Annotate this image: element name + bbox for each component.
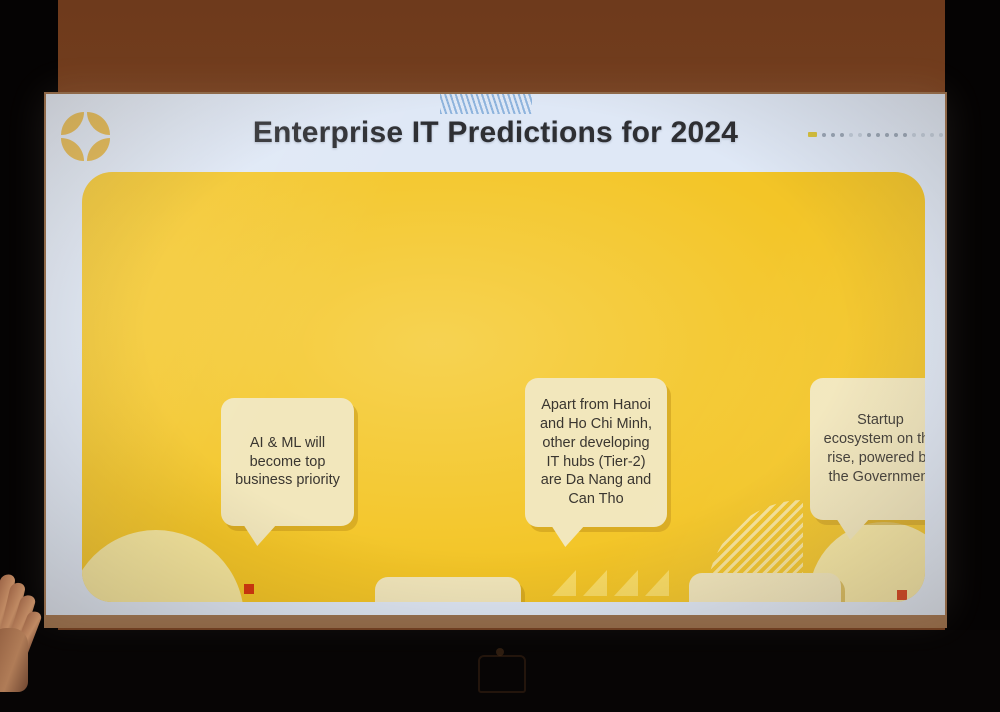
presenter-hand <box>0 572 40 692</box>
prediction-bubble-ai-ml: AI & ML will become top business priorit… <box>221 398 354 526</box>
dot-mark <box>831 133 835 137</box>
palm <box>0 628 28 692</box>
dash-mark <box>808 132 817 137</box>
yellow-content-panel: AI & ML will become top business priorit… <box>82 172 925 602</box>
triangle-mark <box>583 570 607 596</box>
bubble-text: AI & ML will become top business priorit… <box>233 434 342 491</box>
podium-knob <box>496 648 504 656</box>
dotted-line-decoration <box>808 131 943 138</box>
dot-mark <box>867 133 871 137</box>
hatch-stripes-decoration <box>440 94 532 114</box>
dot-mark <box>849 133 853 137</box>
prediction-bubble-cutting-edge: Demand for cutting-edge IT solutions to … <box>375 577 521 602</box>
prediction-bubble-startup: Startup ecosystem on the rise, powered b… <box>810 378 925 520</box>
red-square-decoration <box>244 584 254 594</box>
triangle-mark <box>552 570 576 596</box>
projection-screen: Enterprise IT Predictions for 2024 <box>46 94 945 615</box>
dot-mark <box>903 133 907 137</box>
wall-edge-right <box>945 0 1000 712</box>
dot-mark <box>858 133 862 137</box>
prediction-bubble-cybersecurity: Rapid strides in the cybersecurity marke… <box>689 573 841 602</box>
dot-mark <box>930 133 934 137</box>
bubble-text: Startup ecosystem on the rise, powered b… <box>822 411 925 486</box>
dot-mark <box>894 133 898 137</box>
triangle-mark <box>645 570 669 596</box>
photo-scene: Enterprise IT Predictions for 2024 <box>0 0 1000 712</box>
dot-mark <box>822 133 826 137</box>
prediction-bubble-tier2-hubs: Apart from Hanoi and Ho Chi Minh, other … <box>525 378 667 527</box>
dot-mark <box>885 133 889 137</box>
dot-mark <box>921 133 925 137</box>
bubble-text: Apart from Hanoi and Ho Chi Minh, other … <box>537 396 655 509</box>
red-square-decoration <box>897 590 907 600</box>
dot-mark <box>876 133 880 137</box>
triangle-zigzag-decoration <box>552 570 672 602</box>
dot-mark <box>912 133 916 137</box>
dot-mark <box>840 133 844 137</box>
triangle-mark <box>614 570 638 596</box>
podium-object <box>478 655 526 693</box>
presentation-slide: Enterprise IT Predictions for 2024 <box>46 94 945 615</box>
dot-mark <box>939 133 943 137</box>
